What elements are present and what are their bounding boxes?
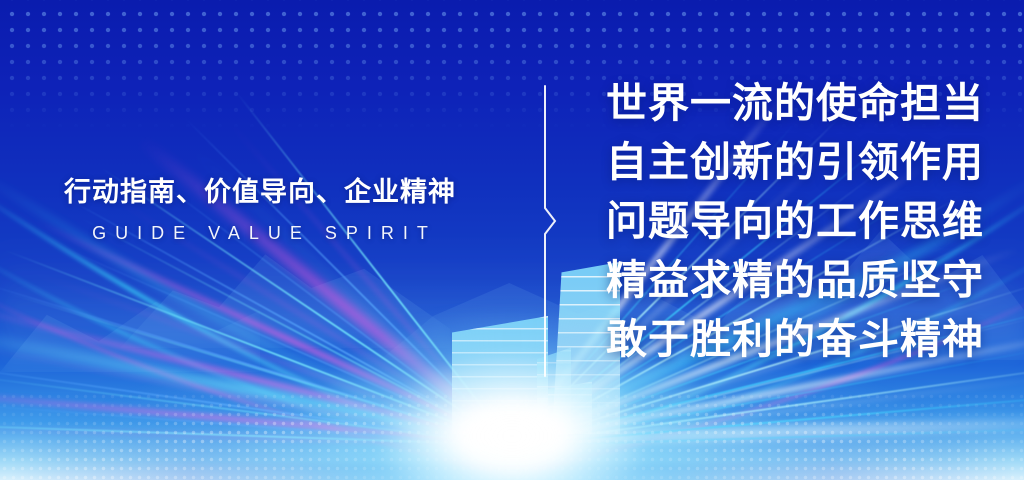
guide-title: 行动指南、价值导向、企业精神 (0, 176, 520, 210)
slogan-line: 世界一流的使命担当 (606, 74, 1006, 133)
slogan-line: 问题导向的工作思维 (606, 192, 1006, 251)
slogan-list: 世界一流的使命担当 自主创新的引领作用 问题导向的工作思维 精益求精的品质坚守 … (606, 74, 1006, 369)
chevron-right-icon (545, 86, 555, 376)
left-text-block: 行动指南、价值导向、企业精神 GUIDE VALUE SPIRIT (0, 176, 520, 244)
guide-subtitle: GUIDE VALUE SPIRIT (0, 223, 520, 244)
slogan-line: 自主创新的引领作用 (606, 133, 1006, 192)
slogan-line: 精益求精的品质坚守 (606, 251, 1006, 310)
culture-banner: 行动指南、价值导向、企业精神 GUIDE VALUE SPIRIT 世界一流的使… (0, 0, 1024, 480)
slogan-line: 敢于胜利的奋斗精神 (606, 310, 1006, 369)
vertical-divider (543, 86, 561, 376)
